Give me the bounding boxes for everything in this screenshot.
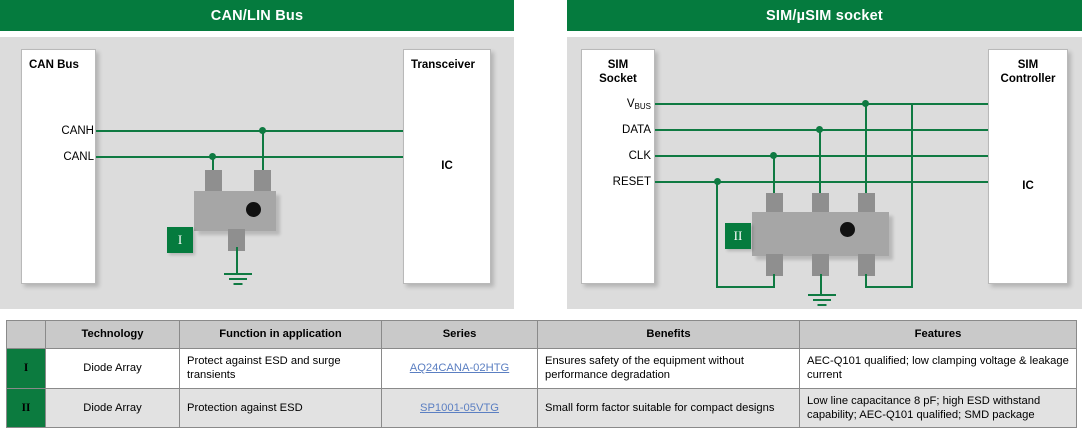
block-sim-socket-label: SIM Socket [582, 58, 654, 87]
table-header: Technology Function in application Serie… [7, 321, 1077, 349]
block-transceiver-label: Transceiver [404, 58, 490, 72]
badge-component-i: I [167, 227, 193, 253]
pin-label-clk: CLK [587, 150, 651, 162]
wire-clk-tap [773, 155, 775, 195]
node-clk [770, 152, 777, 159]
series-link[interactable]: AQ24CANA-02HTG [410, 362, 509, 374]
panel-can-lin-bus: CAN/LIN Bus CAN Bus Transceiver IC CANH … [0, 0, 514, 309]
cell-features: Low line capacitance 8 pF; high ESD with… [800, 388, 1077, 428]
column-header-function: Function in application [180, 321, 382, 349]
cell-function: Protect against ESD and surge transients [180, 349, 382, 389]
package-pin-bottom-2 [812, 254, 829, 276]
column-header-technology: Technology [46, 321, 180, 349]
component-legend-table: Technology Function in application Serie… [6, 320, 1077, 428]
series-link[interactable]: SP1001-05VTG [420, 402, 499, 414]
table-row: II Diode Array Protection against ESD SP… [7, 388, 1077, 428]
column-header-index [7, 321, 46, 349]
table-row: I Diode Array Protect against ESD and su… [7, 349, 1077, 389]
block-sim-controller: SIM Controller IC [988, 49, 1068, 284]
wire-pin1-bottom-up [773, 274, 775, 288]
package-polarity-dot-icon [840, 222, 855, 237]
ground-symbol-icon [821, 294, 822, 306]
cell-features: AEC-Q101 qualified; low clamping voltage… [800, 349, 1077, 389]
package-body-diode-array-ii [752, 212, 889, 256]
cell-technology: Diode Array [46, 349, 180, 389]
wire-pin3-bottom-up [865, 274, 867, 288]
block-sim-controller-label-line1: SIM [1018, 59, 1038, 71]
wire-data-tap [819, 129, 821, 195]
pin-label-reset: RESET [587, 176, 651, 188]
column-header-benefits: Benefits [538, 321, 800, 349]
package-polarity-dot-icon [246, 202, 261, 217]
panel-title-sim-socket: SIM/µSIM socket [567, 0, 1082, 31]
column-header-series: Series [382, 321, 538, 349]
cell-series[interactable]: AQ24CANA-02HTG [382, 349, 538, 389]
panel-sim-socket: SIM/µSIM socket SIM Socket SIM Controlle… [567, 0, 1082, 309]
wire-ground-stem [236, 247, 238, 273]
block-sim-controller-label: SIM Controller [989, 58, 1067, 87]
pin-label-vbus: VBUS [587, 98, 651, 110]
wire-vbus [655, 103, 988, 105]
row-index-badge: I [7, 349, 46, 389]
ground-symbol-icon [237, 273, 238, 285]
wire-ground-stem [820, 274, 822, 294]
block-sim-socket-label-line2: Socket [599, 73, 637, 85]
wire-reset-bottom [716, 286, 774, 288]
column-header-features: Features [800, 321, 1077, 349]
node-canh [259, 127, 266, 134]
row-index-badge: II [7, 388, 46, 428]
cell-series[interactable]: SP1001-05VTG [382, 388, 538, 428]
pin-label-data: DATA [587, 124, 651, 136]
block-can-bus-label: CAN Bus [22, 58, 95, 72]
cell-benefits: Small form factor suitable for compact d… [538, 388, 800, 428]
cell-benefits: Ensures safety of the equipment without … [538, 349, 800, 389]
pin-label-vbus-main: V [627, 98, 635, 110]
pin-label-vbus-sub: BUS [635, 102, 651, 111]
diagram-can-lin-bus: CAN Bus Transceiver IC CANH CANL [0, 37, 514, 309]
block-sim-controller-ic-label: IC [989, 180, 1067, 192]
wire-clk [655, 155, 988, 157]
block-transceiver-ic-label: IC [404, 160, 490, 172]
cell-function: Protection against ESD [180, 388, 382, 428]
node-data [816, 126, 823, 133]
package-body-diode-array-i [194, 191, 276, 231]
table-body: I Diode Array Protect against ESD and su… [7, 349, 1077, 428]
block-can-bus: CAN Bus [21, 49, 96, 284]
block-sim-socket: SIM Socket [581, 49, 655, 284]
wire-vbus-down [911, 103, 913, 288]
block-transceiver: Transceiver IC [403, 49, 491, 284]
panel-title-can-lin-bus: CAN/LIN Bus [0, 0, 514, 31]
application-root: CAN/LIN Bus CAN Bus Transceiver IC CANH … [0, 0, 1082, 447]
table-header-row: Technology Function in application Serie… [7, 321, 1077, 349]
wire-reset [655, 181, 988, 183]
diagram-sim-socket: SIM Socket SIM Controller IC VBUS DATA C… [567, 37, 1082, 309]
wire-vbus-tap [865, 103, 867, 195]
badge-component-ii: II [725, 223, 751, 249]
node-vbus [862, 100, 869, 107]
wire-canl [96, 156, 403, 158]
package-pin-bottom-3 [858, 254, 875, 276]
pin-label-canh: CANH [46, 125, 94, 137]
pin-label-canl: CANL [46, 151, 94, 163]
cell-technology: Diode Array [46, 388, 180, 428]
node-canl [209, 153, 216, 160]
wire-vbus-bottom [865, 286, 913, 288]
block-sim-socket-label-line1: SIM [608, 59, 628, 71]
wire-canh [96, 130, 403, 132]
wire-reset-down [716, 181, 718, 288]
package-pin-bottom-1 [766, 254, 783, 276]
block-sim-controller-label-line2: Controller [1001, 73, 1056, 85]
